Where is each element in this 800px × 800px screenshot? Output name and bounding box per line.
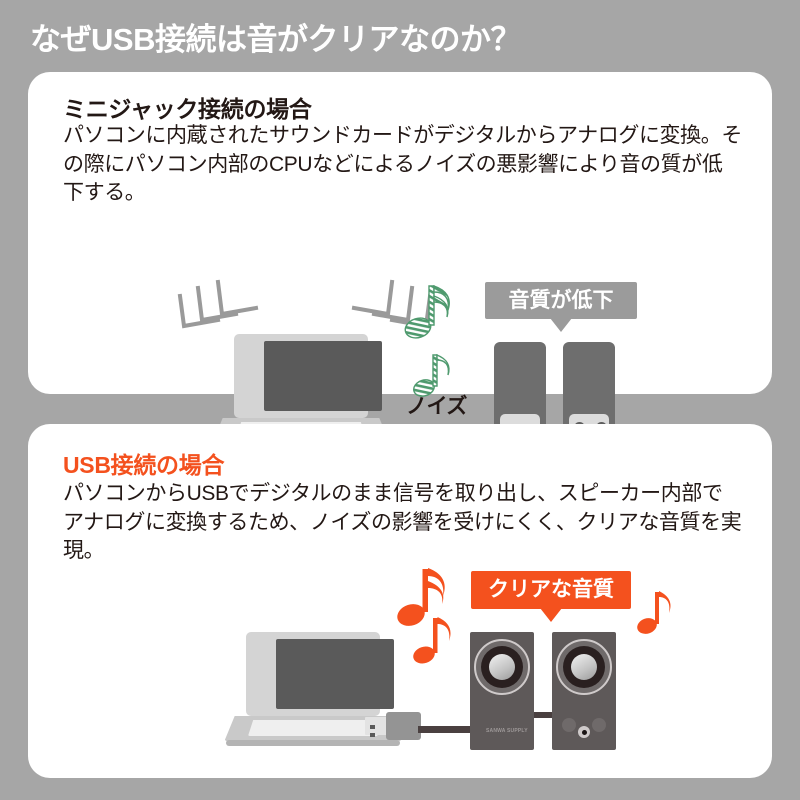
panel-minijack: ミニジャック接続の場合 パソコンに内蔵されたサウンドカードがデジタルからアナログ… [28,72,772,394]
music-note-icon-clear-2 [412,614,456,666]
laptop-screen [276,639,394,709]
panel-body-minijack: パソコンに内蔵されたサウンドカードがデジタルからアナログに変換。その際にパソコン… [63,122,743,208]
panel-heading-minijack: ミニジャック接続の場合 [63,90,312,124]
callout-audio-degraded: 音質が低下 [485,282,637,319]
callout-audio-clear: クリアな音質 [471,571,631,609]
callout-text: 音質が低下 [509,289,614,312]
usb-overmold [386,712,421,740]
infographic-page: なぜUSB接続は音がクリアなのか？ ミニジャック接続の場合 パソコンに内蔵された… [0,0,800,800]
speaker-brand-label: SANWA SUPPLY [486,728,528,734]
music-note-icon-clear-3 [636,588,676,636]
speaker-icon-right [552,632,616,750]
speaker-icon-left: SANWA SUPPLY [470,632,534,750]
laptop-keyboard [248,720,378,736]
speaker-dustcap [571,654,597,680]
page-title: なぜUSB接続は音がクリアなのか？ [30,17,770,63]
laptop-lid [246,632,380,716]
usb-contact [370,733,375,737]
usb-contact [370,725,375,729]
music-note-icon-noisy-1 [404,280,458,342]
panel-body-usb: パソコンからUSBでデジタルのまま信号を取り出し、スピーカー内部でアナログに変換… [63,480,743,566]
volume-knob [562,718,576,732]
callout-tail [550,318,572,332]
noise-label: ノイズ [406,390,467,420]
callout-tail [540,608,562,622]
usb-connector-shell [365,717,387,735]
speaker-dustcap [489,654,515,680]
headphone-jack [578,726,590,738]
usb-cable [418,726,476,733]
callout-text: クリアな音質 [488,578,614,601]
laptop-foot [226,740,400,746]
panel-heading-usb: USB接続の場合 [63,446,224,480]
laptop-screen [264,341,382,411]
tone-knob [592,718,606,732]
usb-plug-icon [365,712,421,740]
speaker-link-cable [534,712,552,718]
laptop-lid [234,334,368,418]
panel-usb: USB接続の場合 パソコンからUSBでデジタルのまま信号を取り出し、スピーカー内… [28,424,772,778]
